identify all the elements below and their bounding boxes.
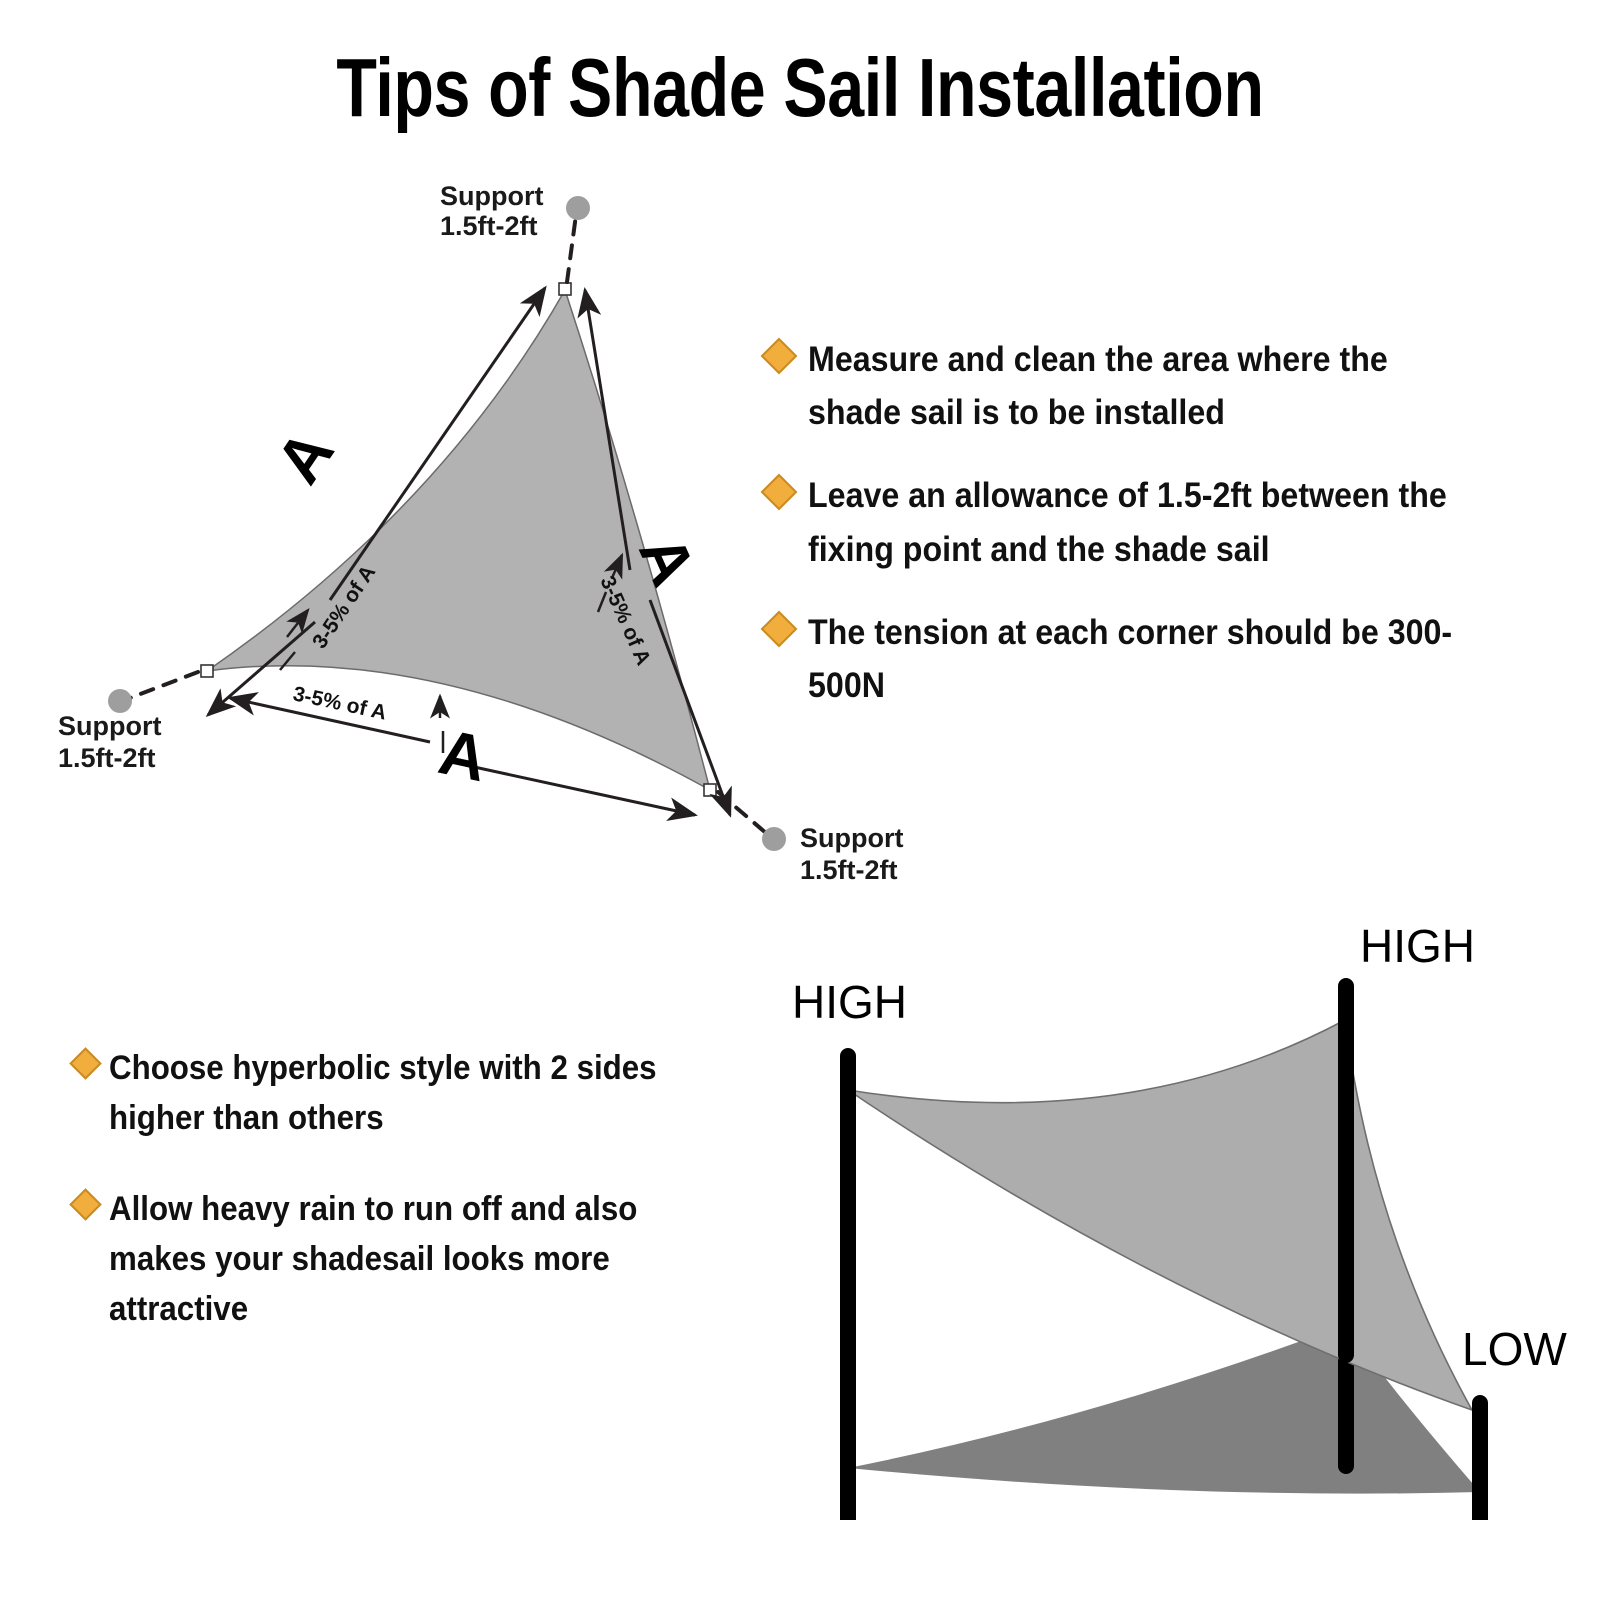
tip-text: Leave an allowance of 1.5-2ft between th…	[808, 469, 1469, 575]
tips-list-right: Measure and clean the area where the sha…	[766, 333, 1526, 742]
tip-text: The tension at each corner should be 300…	[808, 606, 1469, 712]
tip-text: Allow heavy rain to run off and also mak…	[109, 1184, 721, 1335]
hyperbolic-sail-diagram: HIGH HIGH LOW	[760, 900, 1600, 1520]
tip-item: Measure and clean the area where the sha…	[766, 333, 1526, 439]
support-posts-back	[1338, 1352, 1354, 1474]
tips-list-bottom-left: Choose hyperbolic style with 2 sides hig…	[74, 1043, 774, 1375]
support-label-top-line2: 1.5ft-2ft	[440, 211, 538, 241]
sail-fabric-shape-hyperbolic	[848, 1020, 1472, 1410]
tip-item: Leave an allowance of 1.5-2ft between th…	[766, 469, 1526, 575]
tip-item: Allow heavy rain to run off and also mak…	[74, 1184, 774, 1335]
edge-letter-bottom: A	[433, 715, 493, 795]
support-label-top: Support 1.5ft-2ft	[440, 181, 543, 241]
tip-text: Choose hyperbolic style with 2 sides hig…	[109, 1043, 721, 1144]
diamond-bullet-icon	[761, 610, 798, 647]
support-label-left-line2: 1.5ft-2ft	[58, 743, 156, 773]
post-label-high-right: HIGH	[1360, 920, 1475, 972]
diamond-bullet-icon	[761, 474, 798, 511]
tip-item: The tension at each corner should be 300…	[766, 606, 1526, 712]
tip-item: Choose hyperbolic style with 2 sides hig…	[74, 1043, 774, 1144]
sail-fabric-shape	[207, 290, 710, 790]
support-label-left-line1: Support	[58, 711, 161, 741]
tip-text: Measure and clean the area where the sha…	[808, 333, 1469, 439]
support-label-bottom-right: Support 1.5ft-2ft	[800, 823, 903, 885]
diamond-bullet-icon	[69, 1047, 102, 1080]
post-label-low-right: LOW	[1462, 1323, 1567, 1375]
support-label-bottom-right-line1: Support	[800, 823, 903, 853]
post-label-high-left: HIGH	[792, 976, 907, 1028]
edge-letter-left: A	[262, 417, 348, 496]
allowance-label-bottom: 3-5% of A	[291, 682, 389, 724]
support-label-bottom-right-line2: 1.5ft-2ft	[800, 855, 898, 885]
support-label-left: Support 1.5ft-2ft	[58, 711, 161, 773]
diamond-bullet-icon	[761, 338, 798, 375]
diamond-bullet-icon	[69, 1188, 102, 1221]
support-label-top-line1: Support	[440, 181, 543, 211]
page-title: Tips of Shade Sail Installation	[160, 44, 1440, 131]
